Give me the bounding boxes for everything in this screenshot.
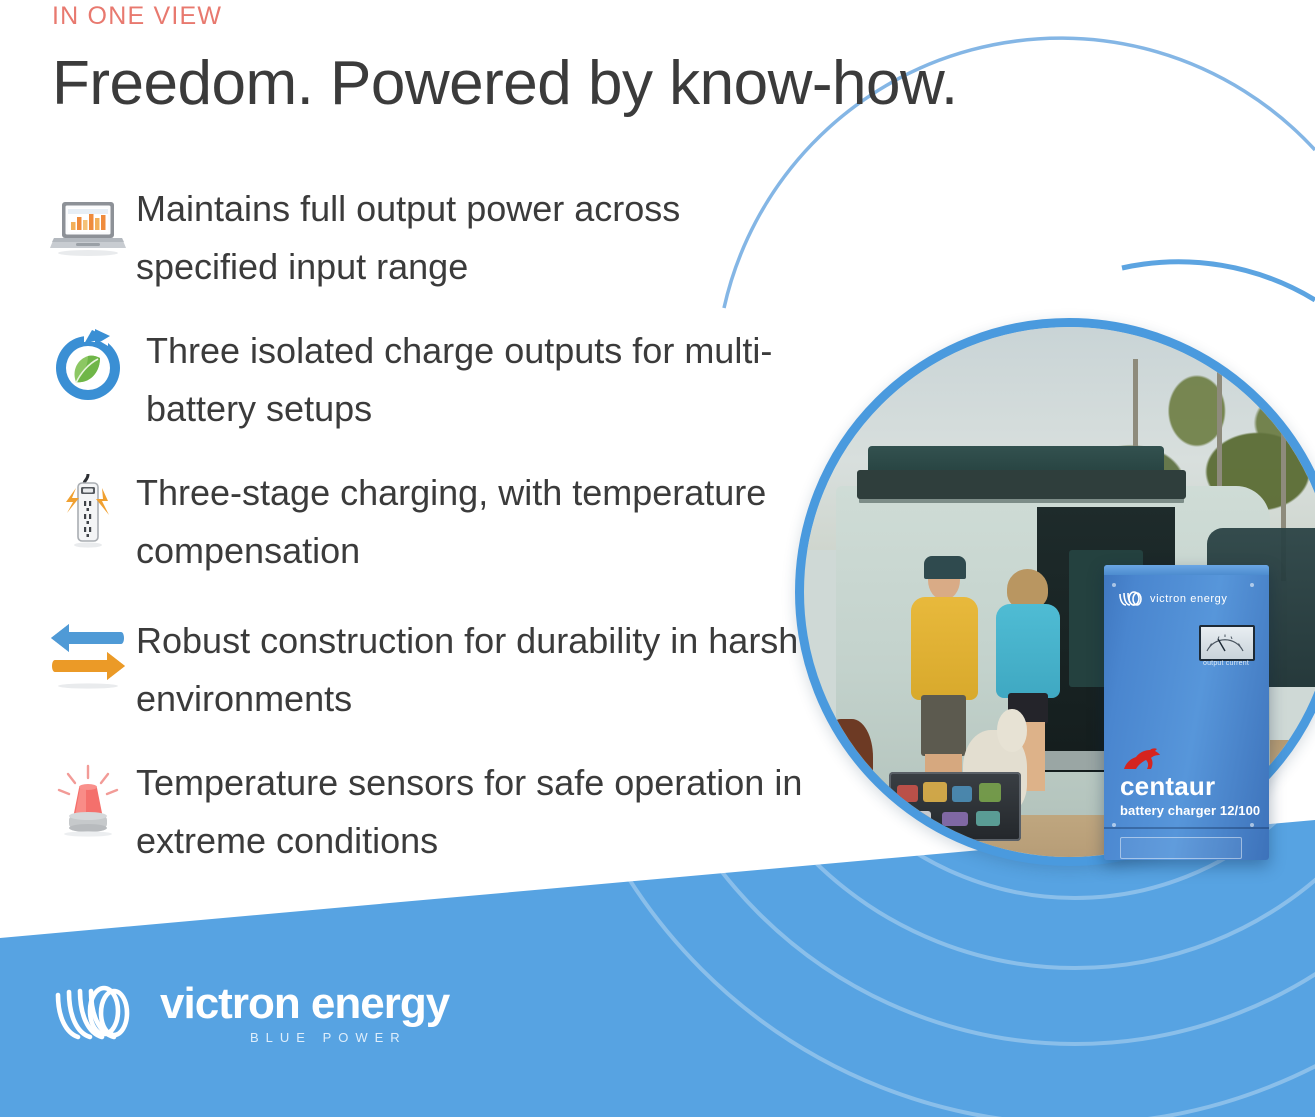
feature-item: Temperature sensors for safe operation i… — [40, 752, 830, 870]
brown-dog — [820, 719, 873, 814]
laptop-chart-icon — [40, 178, 136, 274]
feature-text: Robust construction for durability in ha… — [136, 604, 830, 728]
feature-item: Three-stage charging, with temperature c… — [40, 462, 830, 580]
power-strip-icon — [40, 462, 136, 558]
output-current-meter — [1199, 625, 1255, 661]
alarm-beacon-icon — [40, 752, 136, 848]
torso — [911, 597, 977, 700]
sticker-cooler — [889, 772, 1022, 841]
feature-item: Maintains full output power across speci… — [40, 178, 830, 296]
feature-text: Three-stage charging, with temperature c… — [136, 462, 830, 580]
charger-top-bevel — [1104, 565, 1269, 575]
product-brand-text: victron energy — [1150, 593, 1228, 605]
meter-label: output current — [1196, 660, 1256, 667]
logo-main-text: victron energy — [160, 982, 449, 1026]
hair — [1007, 569, 1048, 609]
feature-text: Maintains full output power across speci… — [136, 178, 830, 296]
victron-energy-logo: victron energy BLUE POWER — [52, 982, 449, 1045]
screw — [1112, 583, 1116, 587]
victron-mark-icon — [1118, 591, 1144, 607]
feature-item: Three isolated charge outputs for multi-… — [40, 320, 830, 438]
screw — [1250, 583, 1254, 587]
van-roof-rack — [857, 470, 1186, 499]
logo-wordmark: victron energy BLUE POWER — [160, 982, 449, 1045]
infographic-poster: IN ONE VIEW Freedom. Powered by know-how… — [0, 0, 1315, 1117]
torso — [996, 604, 1060, 697]
feature-text: Temperature sensors for safe operation i… — [136, 752, 830, 870]
product-subtitle: battery charger 12/100 — [1120, 803, 1260, 818]
warning-label — [1120, 837, 1242, 859]
page-title: Freedom. Powered by know-how. — [52, 48, 958, 120]
centaur-horse-icon — [1120, 747, 1162, 773]
logo-tagline: BLUE POWER — [160, 1030, 449, 1045]
recycle-leaf-icon — [40, 320, 136, 416]
cap — [924, 556, 967, 579]
victron-logo-mark-icon — [52, 983, 144, 1045]
product-brand: victron energy — [1118, 591, 1228, 607]
shorts — [921, 695, 966, 756]
feature-text: Three isolated charge outputs for multi-… — [136, 320, 830, 438]
product-model: centaur — [1120, 772, 1215, 800]
eyebrow-label: IN ONE VIEW — [52, 2, 222, 31]
feature-item: Robust construction for durability in ha… — [40, 604, 830, 728]
feature-list: Maintains full output power across speci… — [40, 178, 830, 894]
product-centaur-charger: victron energy output current centaur ba — [1104, 565, 1269, 860]
exchange-arrows-icon — [40, 604, 136, 700]
panel-seam — [1104, 827, 1269, 829]
